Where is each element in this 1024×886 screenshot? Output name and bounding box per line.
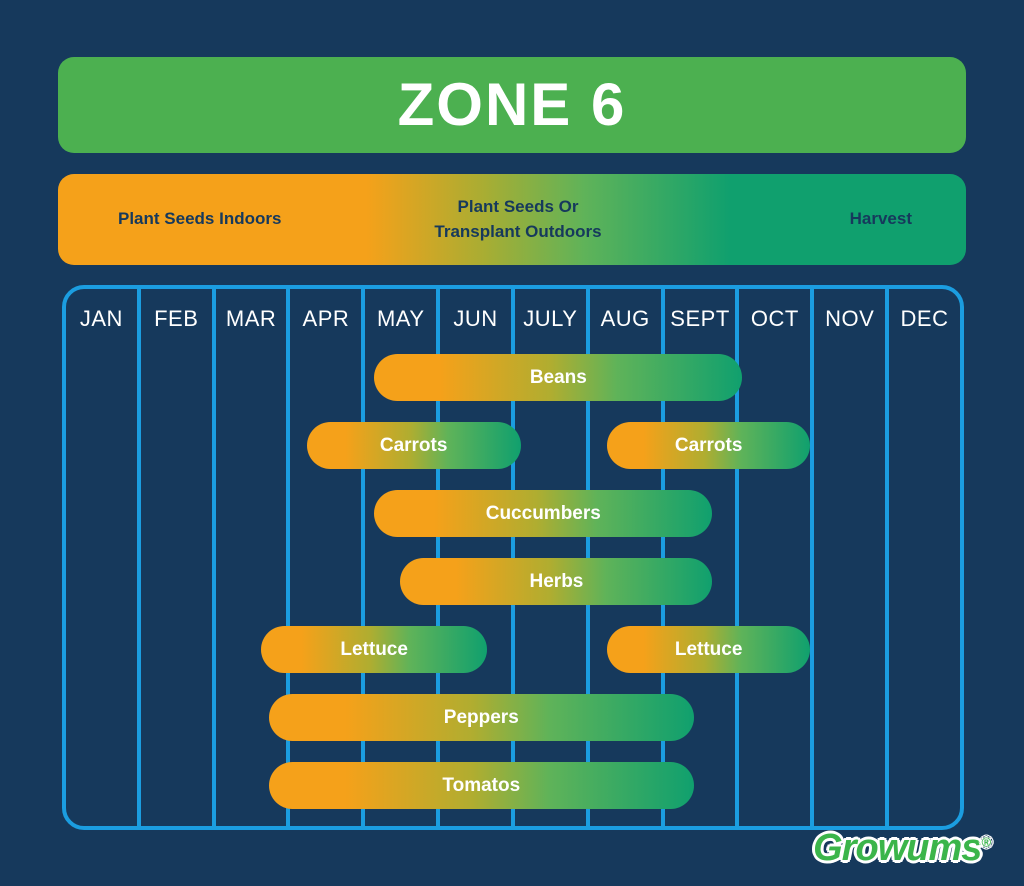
month-column-nov[interactable]: NOV: [814, 289, 889, 826]
month-column-dec[interactable]: DEC: [889, 289, 960, 826]
month-label: NOV: [814, 306, 885, 332]
crop-bar-label: Lettuce: [340, 639, 408, 661]
month-column-mar[interactable]: MAR: [216, 289, 291, 826]
month-label: DEC: [889, 306, 960, 332]
crop-bar-carrots[interactable]: Carrots: [607, 422, 810, 469]
crop-bar-tomatos[interactable]: Tomatos: [269, 762, 694, 809]
month-label: AUG: [590, 306, 661, 332]
registered-trademark-icon: ®: [981, 834, 990, 849]
crop-bar-label: Tomatos: [442, 775, 520, 797]
legend-plant-seeds-outdoors: Plant Seeds Or Transplant Outdoors: [368, 195, 668, 244]
zone-title-banner: ZONE 6: [58, 57, 966, 153]
month-label: MAY: [365, 306, 436, 332]
page-title: ZONE 6: [398, 75, 627, 135]
crop-bar-label: Cuccumbers: [486, 503, 601, 525]
legend-harvest: Harvest: [692, 207, 936, 232]
month-label: FEB: [141, 306, 212, 332]
crop-bar-label: Herbs: [530, 571, 584, 593]
crop-bar-label: Carrots: [380, 435, 448, 457]
month-column-oct[interactable]: OCT: [739, 289, 814, 826]
crop-bar-label: Lettuce: [675, 639, 743, 661]
planting-calendar-panel: JANFEBMARAPRMAYJUNJULYAUGSEPTOCTNOVDEC B…: [62, 285, 964, 830]
crop-bar-label: Peppers: [444, 707, 519, 729]
growums-logo: Growums®: [813, 827, 990, 870]
month-label: JULY: [515, 306, 586, 332]
crop-bar-label: Carrots: [675, 435, 743, 457]
legend-gradient-bar: Plant Seeds Indoors Plant Seeds Or Trans…: [58, 174, 966, 265]
month-column-feb[interactable]: FEB: [141, 289, 216, 826]
crop-bar-peppers[interactable]: Peppers: [269, 694, 694, 741]
crop-bar-label: Beans: [530, 367, 587, 389]
crop-bar-lettuce[interactable]: Lettuce: [261, 626, 487, 673]
month-label: JAN: [66, 306, 137, 332]
month-label: MAR: [216, 306, 287, 332]
crop-bar-carrots[interactable]: Carrots: [307, 422, 521, 469]
crop-bar-herbs[interactable]: Herbs: [400, 558, 712, 605]
crop-bar-beans[interactable]: Beans: [374, 354, 742, 401]
month-label: SEPT: [665, 306, 736, 332]
month-label: OCT: [739, 306, 810, 332]
crop-bar-lettuce[interactable]: Lettuce: [607, 626, 810, 673]
legend-outdoors-line-1: Plant Seeds Or: [458, 197, 579, 216]
growums-logo-text: Growums: [813, 827, 981, 869]
legend-outdoors-line-2: Transplant Outdoors: [434, 222, 601, 241]
crop-bar-cuccumbers[interactable]: Cuccumbers: [374, 490, 712, 537]
month-label: APR: [290, 306, 361, 332]
month-column-jan[interactable]: JAN: [66, 289, 141, 826]
month-column-apr[interactable]: APR: [290, 289, 365, 826]
month-label: JUN: [440, 306, 511, 332]
